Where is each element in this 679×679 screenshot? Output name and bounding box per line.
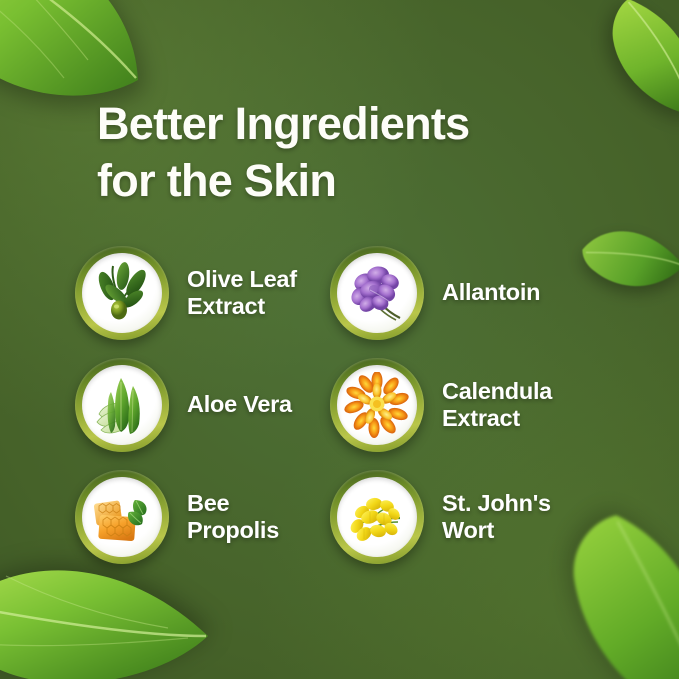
ingredient-label: St. John's Wort: [442, 490, 551, 545]
ingredient-label: Aloe Vera: [187, 391, 292, 418]
olive-branch-icon: [89, 260, 155, 326]
ingredient-label: Allantoin: [442, 279, 540, 306]
ingredient-item-bee-propolis: Bee Propolis: [75, 467, 330, 567]
ingredient-label: Calendula Extract: [442, 378, 552, 433]
leaf-icon: [585, 0, 679, 123]
ingredient-grid: Olive Leaf Extract: [75, 243, 615, 567]
ingredient-label-line-2: Extract: [187, 293, 297, 320]
ingredient-label-line-1: Aloe Vera: [187, 391, 292, 418]
ingredients-infographic: Better Ingredients for the Skin: [0, 0, 679, 679]
comfrey-flower-icon: [344, 260, 410, 326]
ingredient-label-line-1: Olive Leaf: [187, 266, 297, 293]
page-title: Better Ingredients for the Skin: [97, 96, 567, 209]
ingredient-item-allantoin: Allantoin: [330, 243, 585, 343]
ingredient-badge: [330, 246, 424, 340]
yellow-flower-icon: [344, 484, 410, 550]
ingredient-label-line-1: Bee: [187, 490, 279, 517]
ingredient-item-aloe-vera: Aloe Vera: [75, 355, 330, 455]
ingredient-label-line-1: Calendula: [442, 378, 552, 405]
ingredient-label: Bee Propolis: [187, 490, 279, 545]
ingredient-item-st-johns-wort: St. John's Wort: [330, 467, 585, 567]
marigold-flower-icon: [344, 372, 410, 438]
ingredient-badge: [75, 358, 169, 452]
ingredient-item-olive-leaf-extract: Olive Leaf Extract: [75, 243, 330, 343]
ingredient-label-line-1: Allantoin: [442, 279, 540, 306]
ingredient-item-calendula-extract: Calendula Extract: [330, 355, 585, 455]
leaf-icon: [0, 556, 214, 679]
aloe-vera-icon: [89, 372, 155, 438]
ingredient-badge: [75, 470, 169, 564]
page-title-line-1: Better Ingredients: [97, 96, 567, 153]
ingredient-label-line-2: Extract: [442, 405, 552, 432]
ingredient-badge: [75, 246, 169, 340]
page-title-line-2: for the Skin: [97, 153, 567, 210]
ingredient-label-line-2: Propolis: [187, 517, 279, 544]
ingredient-label: Olive Leaf Extract: [187, 266, 297, 321]
ingredient-badge: [330, 358, 424, 452]
ingredient-label-line-2: Wort: [442, 517, 551, 544]
ingredient-label-line-1: St. John's: [442, 490, 551, 517]
honeycomb-icon: [89, 484, 155, 550]
ingredient-badge: [330, 470, 424, 564]
